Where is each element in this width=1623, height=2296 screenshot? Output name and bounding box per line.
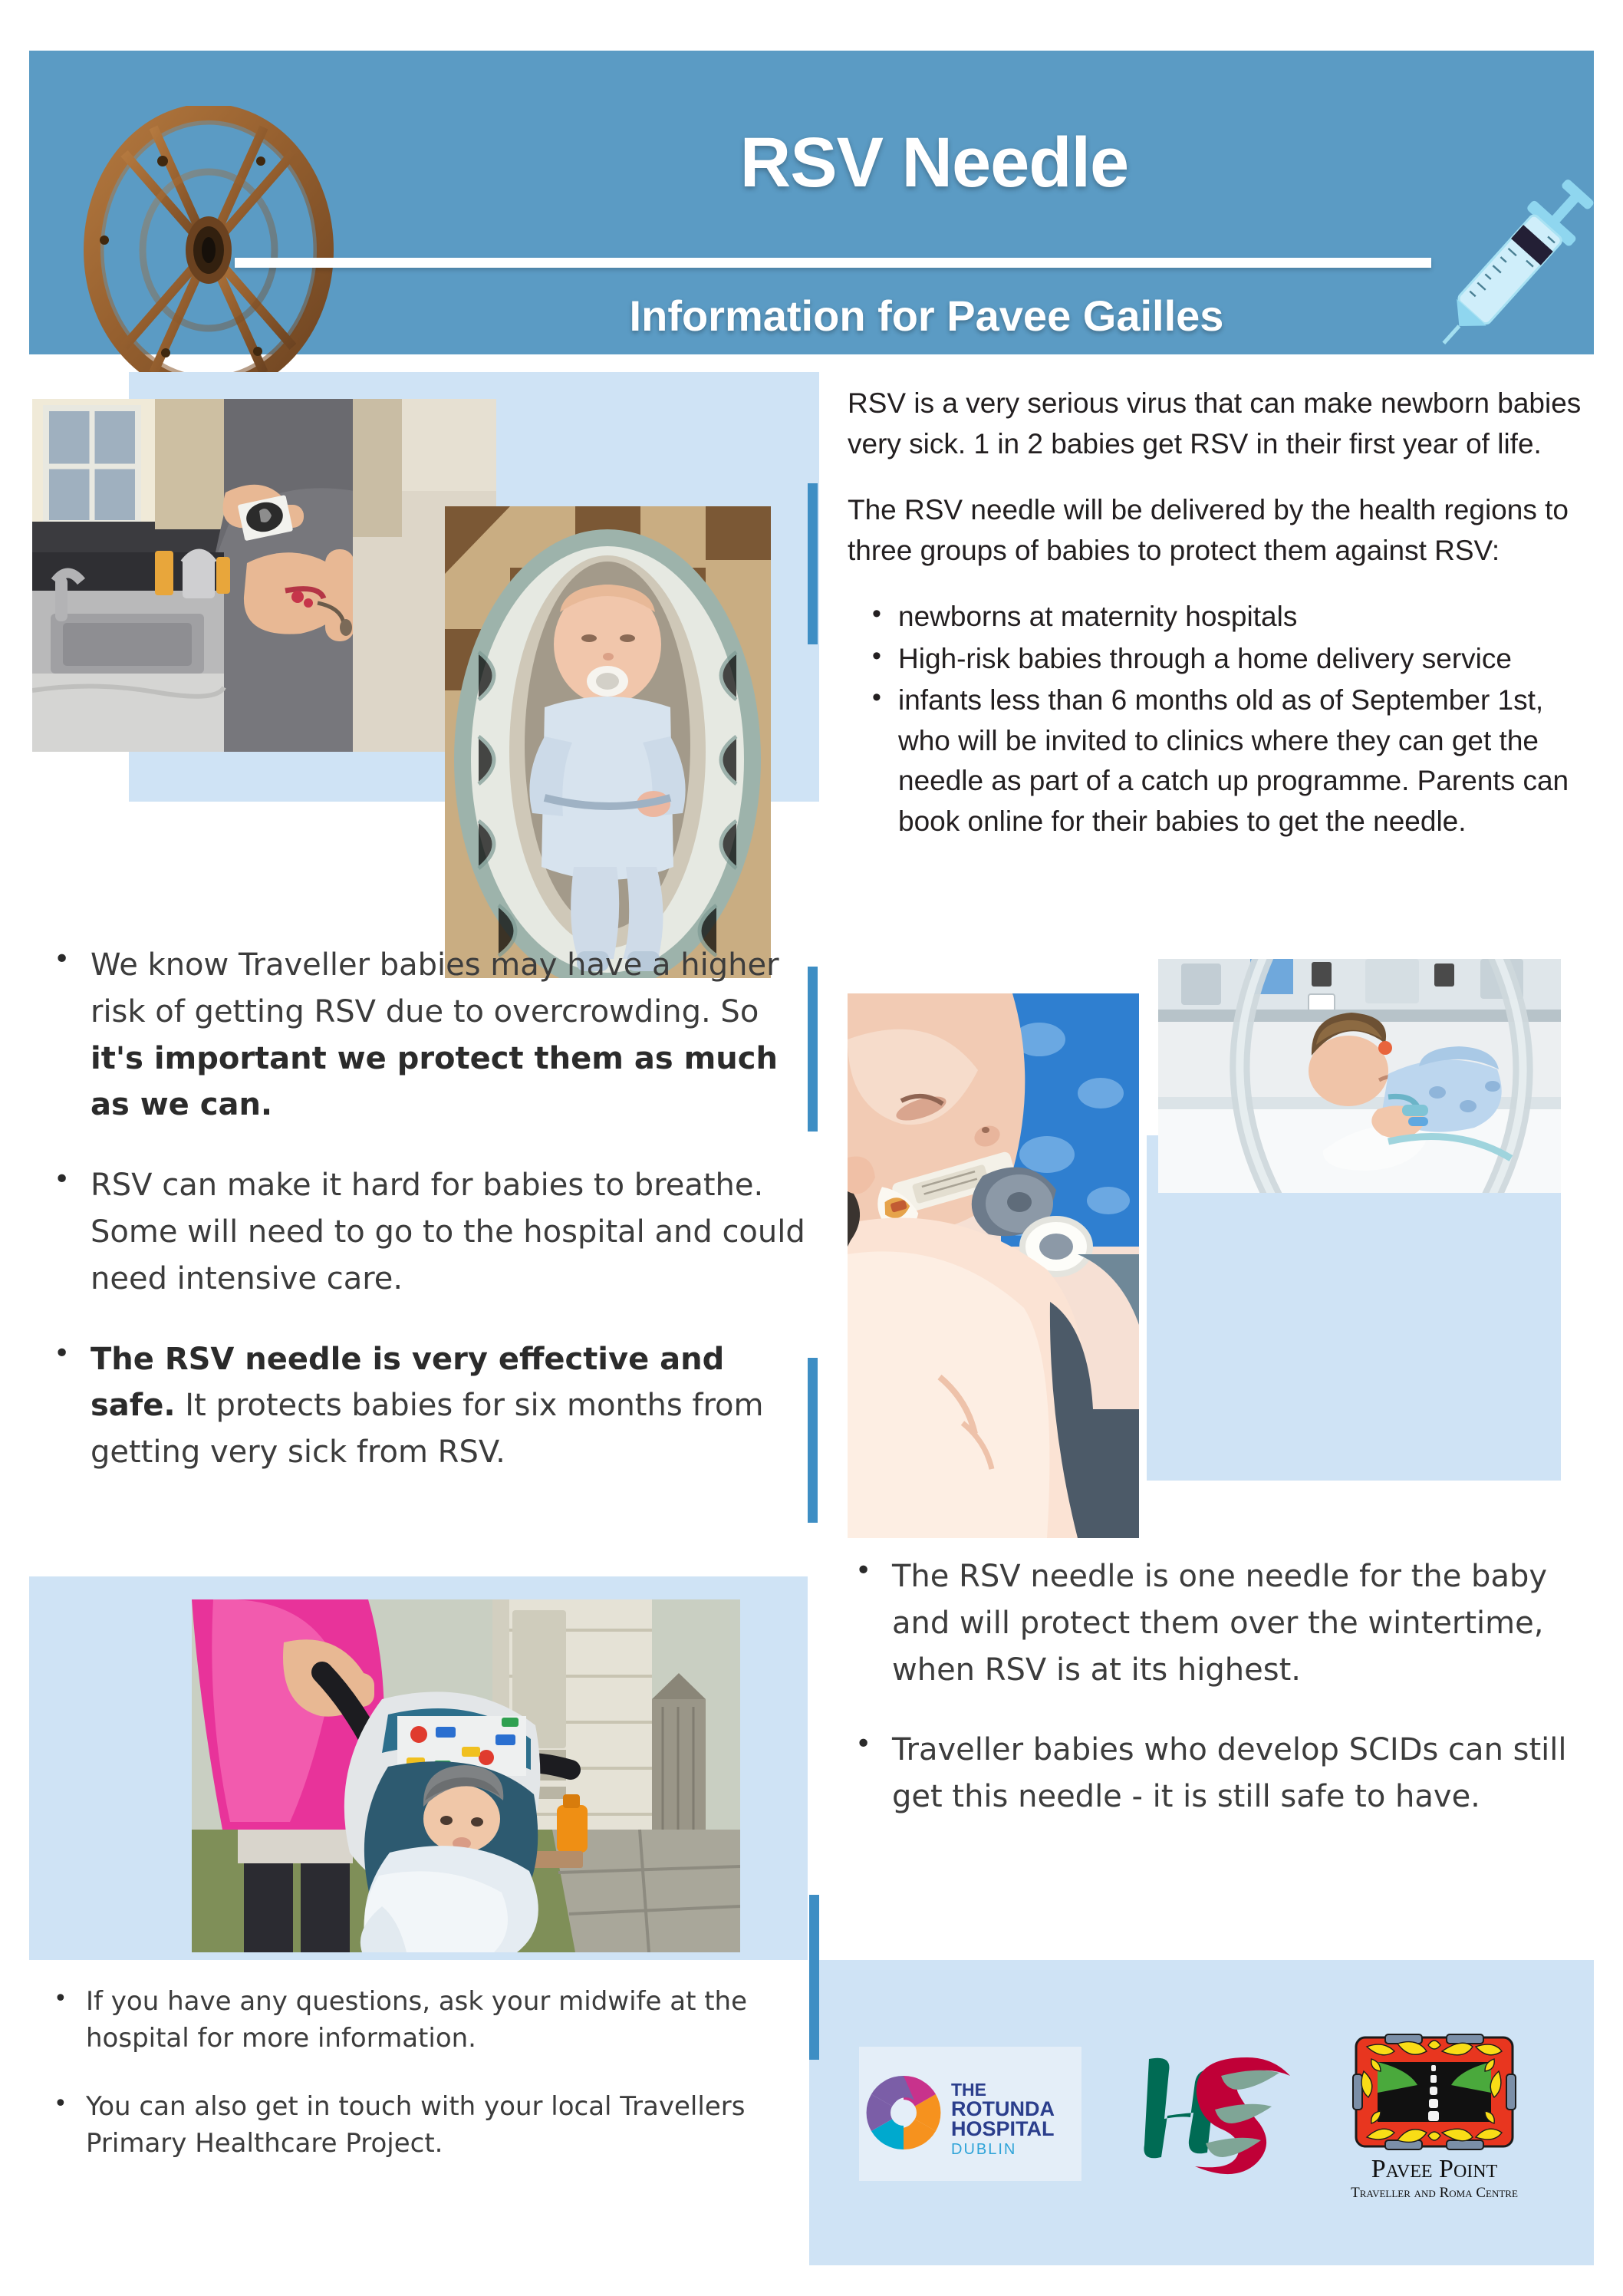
rotunda-line-4: DUBLIN	[951, 2141, 1016, 2158]
bullet-text-plain: RSV can make it hard for babies to breat…	[91, 1168, 805, 1296]
syringe-icon	[1433, 150, 1602, 373]
bullet-text-bold: it's important we protect them as much a…	[91, 1041, 778, 1123]
newborn-baby-in-bouncer-chair	[445, 506, 771, 978]
traveller-risk-list: We know Traveller babies may have a high…	[46, 942, 813, 1476]
baby-in-hospital-incubator	[1158, 959, 1561, 1193]
intro-paragraph-2: The RSV needle will be delivered by the …	[848, 490, 1595, 571]
list-item: The RSV needle is very effective and saf…	[46, 1336, 813, 1476]
logo-row: THE ROTUNDA HOSPITAL DUBLIN	[859, 2033, 1580, 2209]
pavee-point-logo: Pavee Point Traveller and Roma Centre	[1350, 2033, 1519, 2209]
rotunda-hospital-logo: THE ROTUNDA HOSPITAL DUBLIN	[859, 2047, 1081, 2181]
right-bullet-block: The RSV needle is one needle for the bab…	[848, 1553, 1595, 1854]
list-item: If you have any questions, ask your midw…	[46, 1983, 813, 2057]
list-item: newborns at maternity hospitals	[898, 597, 1595, 637]
bullet-text-plain: We know Traveller babies may have a high…	[91, 947, 779, 1029]
pavee-subtitle: Traveller and Roma Centre	[1351, 2185, 1518, 2201]
poster-header: RSV Needle Information for Pavee Gailles	[29, 51, 1594, 354]
list-item: We know Traveller babies may have a high…	[46, 942, 813, 1128]
wagon-wheel-icon	[74, 106, 344, 394]
list-item: RSV can make it hard for babies to breat…	[46, 1162, 813, 1302]
left-bullet-block: We know Traveller babies may have a high…	[46, 942, 813, 1510]
intro-paragraph-1: RSV is a very serious virus that can mak…	[848, 384, 1595, 464]
rotunda-line-3: HOSPITAL	[951, 2117, 1055, 2140]
page-subtitle: Information for Pavee Gailles	[459, 295, 1394, 338]
list-item: infants less than 6 months old as of Sep…	[898, 680, 1595, 842]
list-item: High-risk babies through a home delivery…	[898, 639, 1595, 680]
mother-carrying-baby-in-car-seat-at-caravan	[192, 1599, 740, 1952]
pregnant-woman-holding-scan-photo	[32, 399, 496, 752]
needle-details-list: The RSV needle is one needle for the bab…	[848, 1553, 1595, 1820]
contact-bullet-block: If you have any questions, ask your midw…	[46, 1983, 813, 2192]
intro-text-block: RSV is a very serious virus that can mak…	[848, 384, 1595, 843]
pavee-title: Pavee Point	[1371, 2155, 1498, 2183]
page-title: RSV Needle	[482, 127, 1387, 198]
list-item: Traveller babies who develop SCIDs can s…	[848, 1727, 1595, 1820]
header-divider	[235, 258, 1431, 268]
accent-bar	[808, 483, 818, 644]
list-item: You can also get in touch with your loca…	[46, 2088, 813, 2163]
delivery-groups-list: newborns at maternity hospitals High-ris…	[848, 597, 1595, 842]
baby-in-intensive-care-with-feeding-tube	[848, 993, 1139, 1538]
contact-list: If you have any questions, ask your midw…	[46, 1983, 813, 2162]
list-item: The RSV needle is one needle for the bab…	[848, 1553, 1595, 1693]
bullet-text-after: It protects babies for six months from g…	[91, 1388, 763, 1470]
hse-logo	[1135, 2048, 1304, 2175]
